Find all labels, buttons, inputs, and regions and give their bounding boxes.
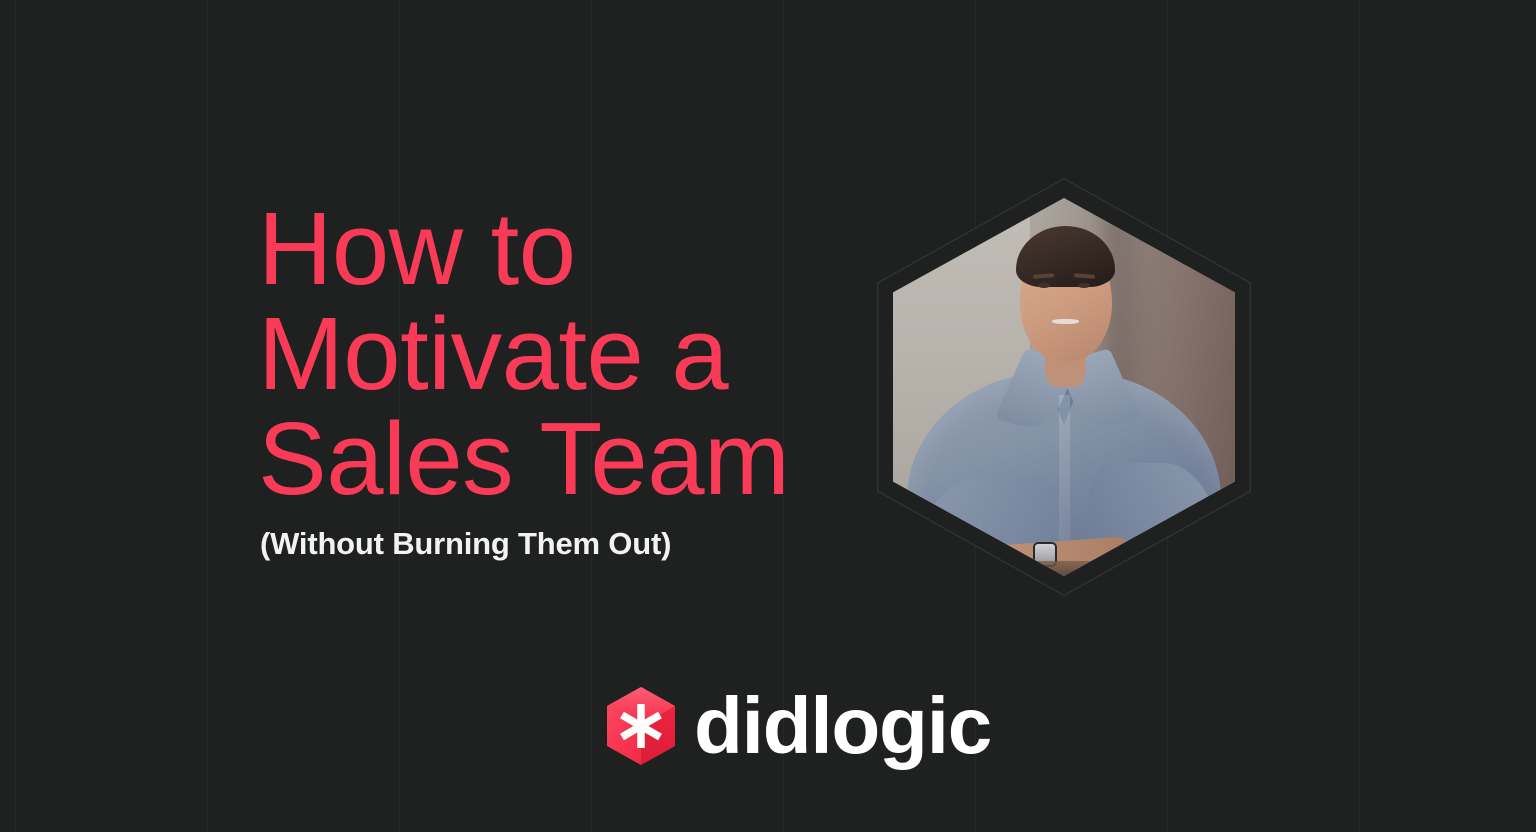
brand-logo[interactable]: didlogic: [606, 686, 991, 766]
photo-eye-left: [1038, 283, 1050, 289]
headline-line-1: How to: [258, 196, 878, 301]
cover-canvas: How to Motivate a Sales Team (Without Bu…: [0, 0, 1536, 832]
photo-mouth: [1052, 319, 1079, 324]
headline-line-2: Motivate a: [258, 301, 878, 406]
hexagon-asterisk-icon: [606, 686, 676, 766]
portrait: [877, 178, 1251, 596]
headline-line-3: Sales Team: [258, 406, 878, 511]
logo-wordmark: didlogic: [694, 686, 991, 766]
page-subtitle: (Without Burning Them Out): [260, 524, 671, 564]
photo-desk: [893, 561, 1235, 576]
page-title: How to Motivate a Sales Team: [258, 196, 878, 511]
